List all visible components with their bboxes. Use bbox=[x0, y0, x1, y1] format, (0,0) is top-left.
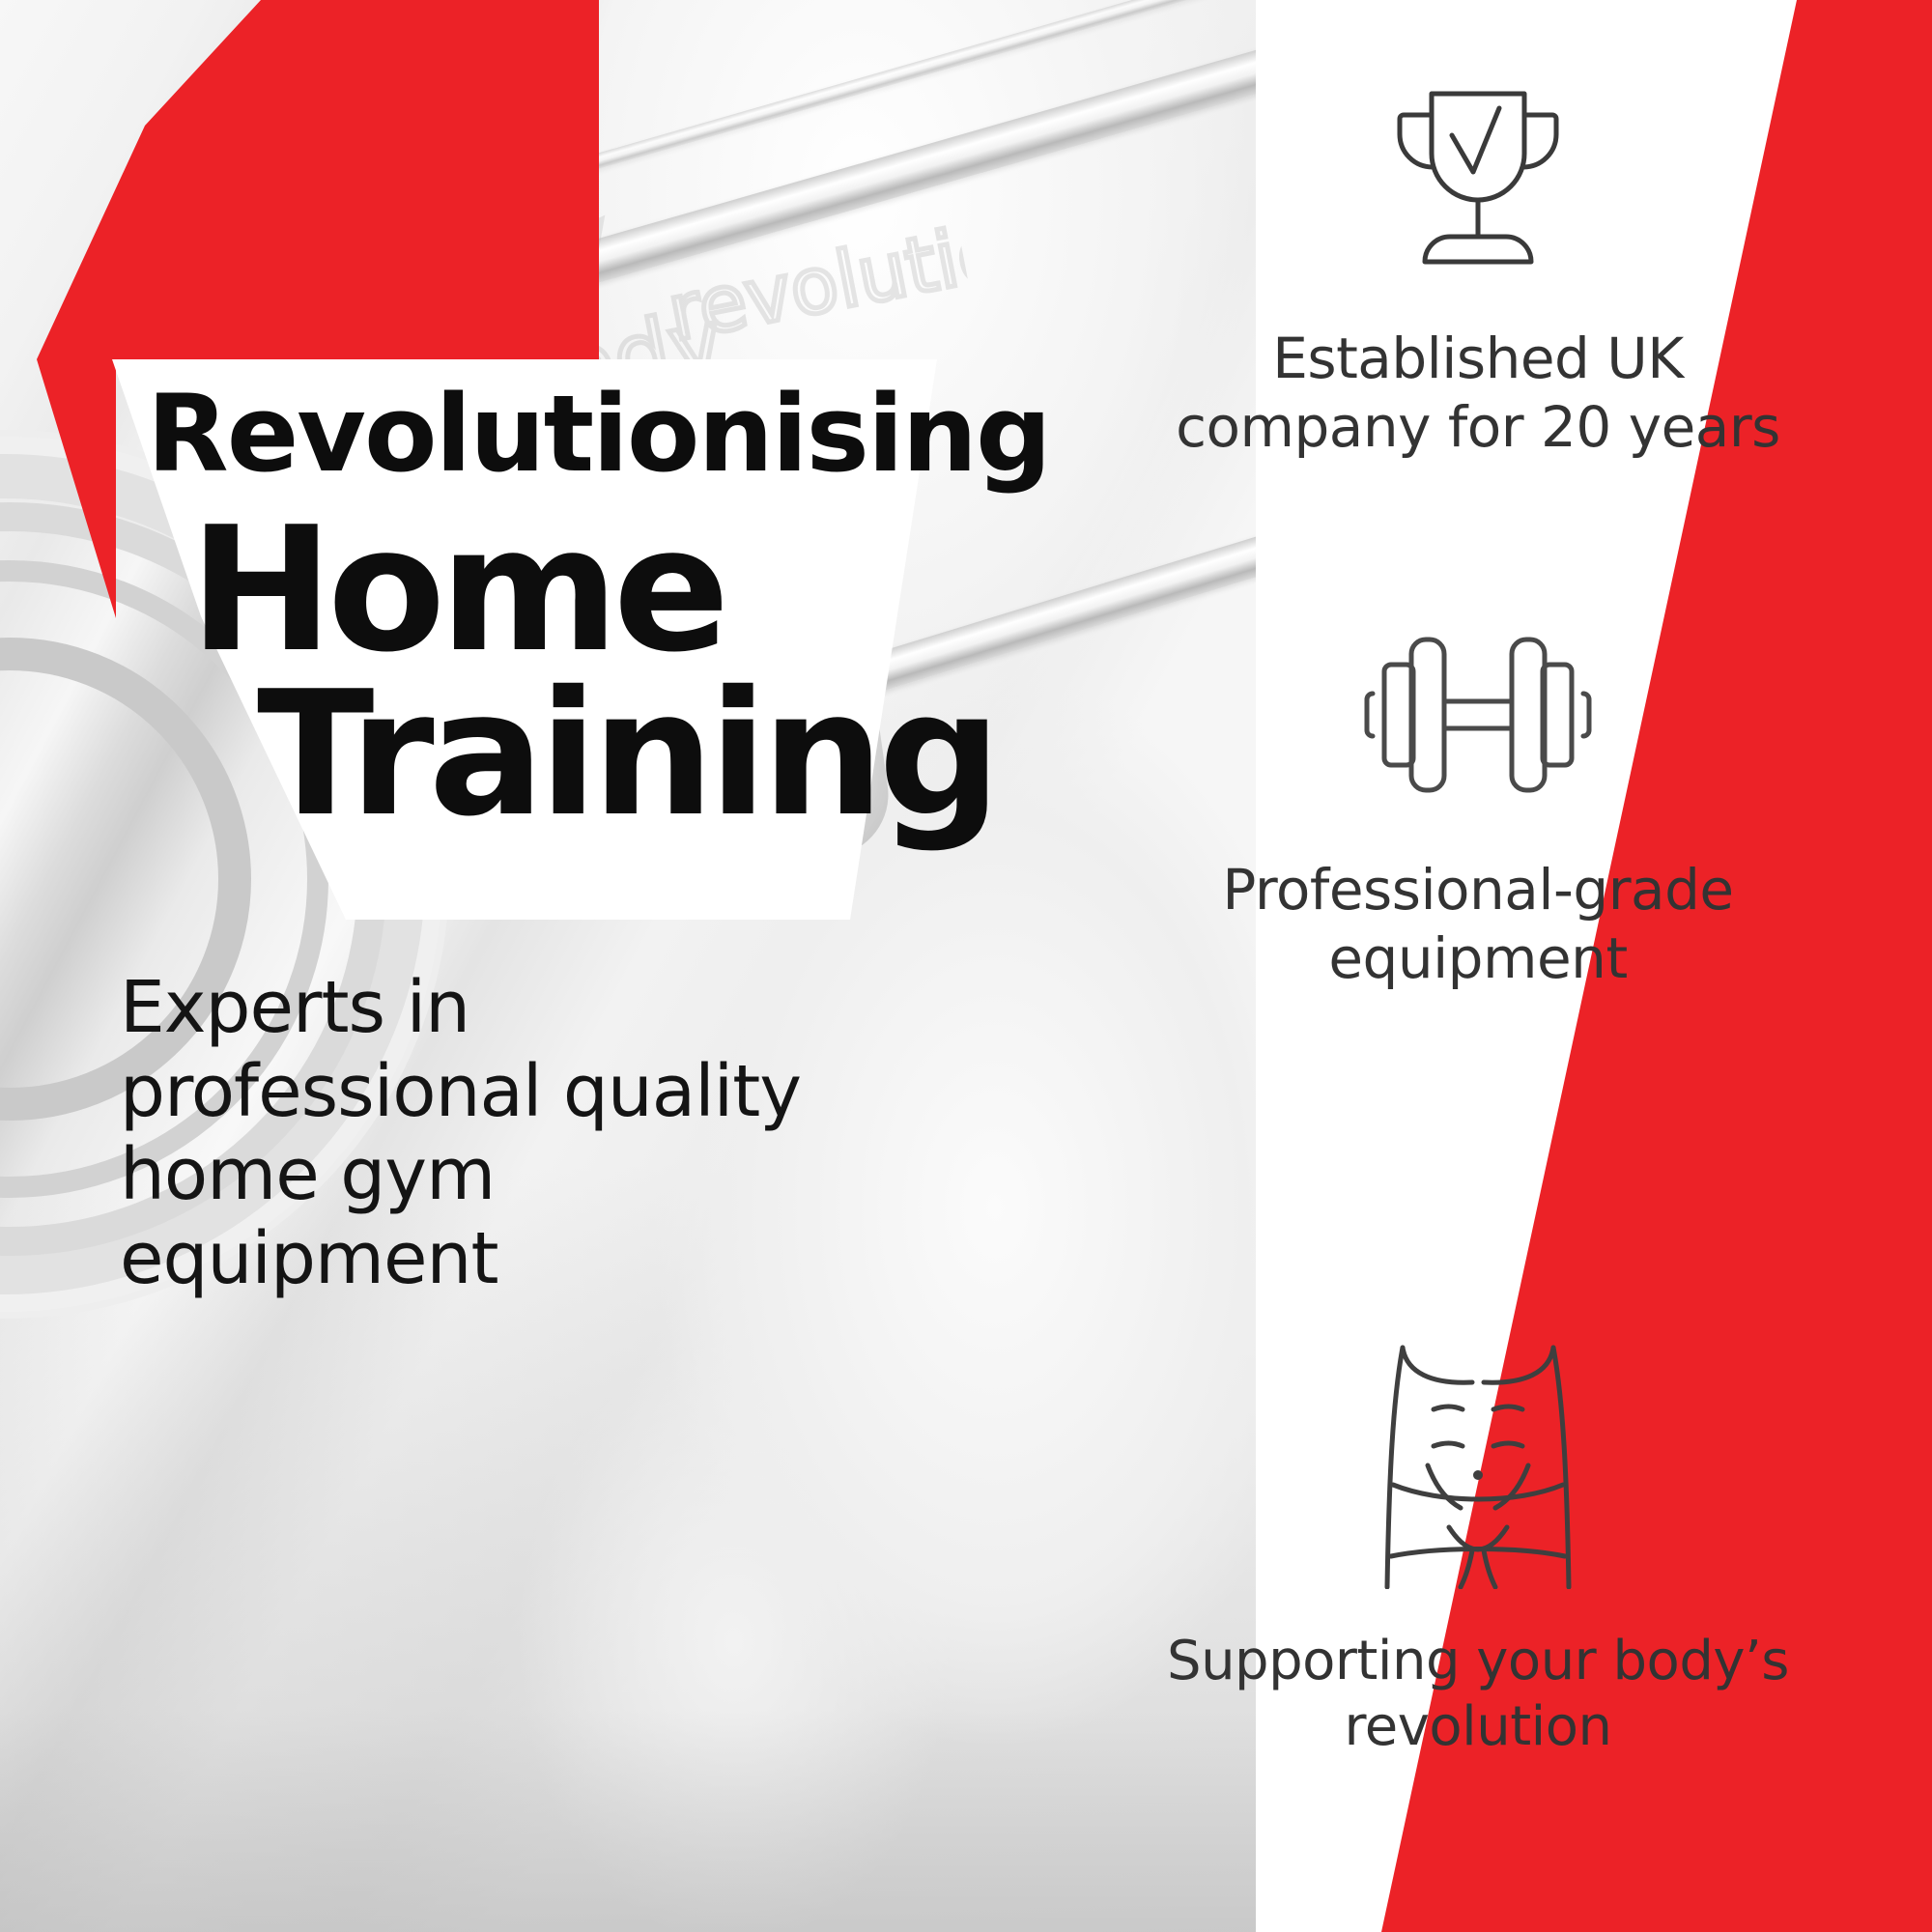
feature-item-equipment: Professional-grade equipment bbox=[1140, 599, 1816, 993]
headline-line-1: Revolutionising bbox=[147, 381, 1050, 487]
floor-shadow bbox=[0, 1710, 1256, 1932]
promo-banner: body revolution Revolutionising Home Tra… bbox=[0, 0, 1932, 1932]
feature-item-established: Established UK company for 20 years bbox=[1140, 68, 1816, 462]
feature-label: Supporting your body’s revolution bbox=[1140, 1629, 1816, 1761]
feature-item-body: Supporting your body’s revolution bbox=[1140, 1323, 1816, 1761]
feature-label: Professional-grade equipment bbox=[1140, 856, 1816, 993]
trophy-check-icon bbox=[1140, 68, 1816, 299]
subcopy-text: Experts in professional quality home gym… bbox=[120, 966, 873, 1300]
headline-line-2: Home bbox=[189, 506, 724, 674]
headline-line-3: Training bbox=[257, 670, 996, 838]
svg-text:revolution: revolution bbox=[661, 196, 986, 358]
feature-list: Established UK company for 20 years Prof… bbox=[1140, 0, 1816, 1932]
abs-torso-icon bbox=[1140, 1323, 1816, 1604]
dumbbell-icon bbox=[1140, 599, 1816, 831]
feature-label: Established UK company for 20 years bbox=[1140, 325, 1816, 462]
